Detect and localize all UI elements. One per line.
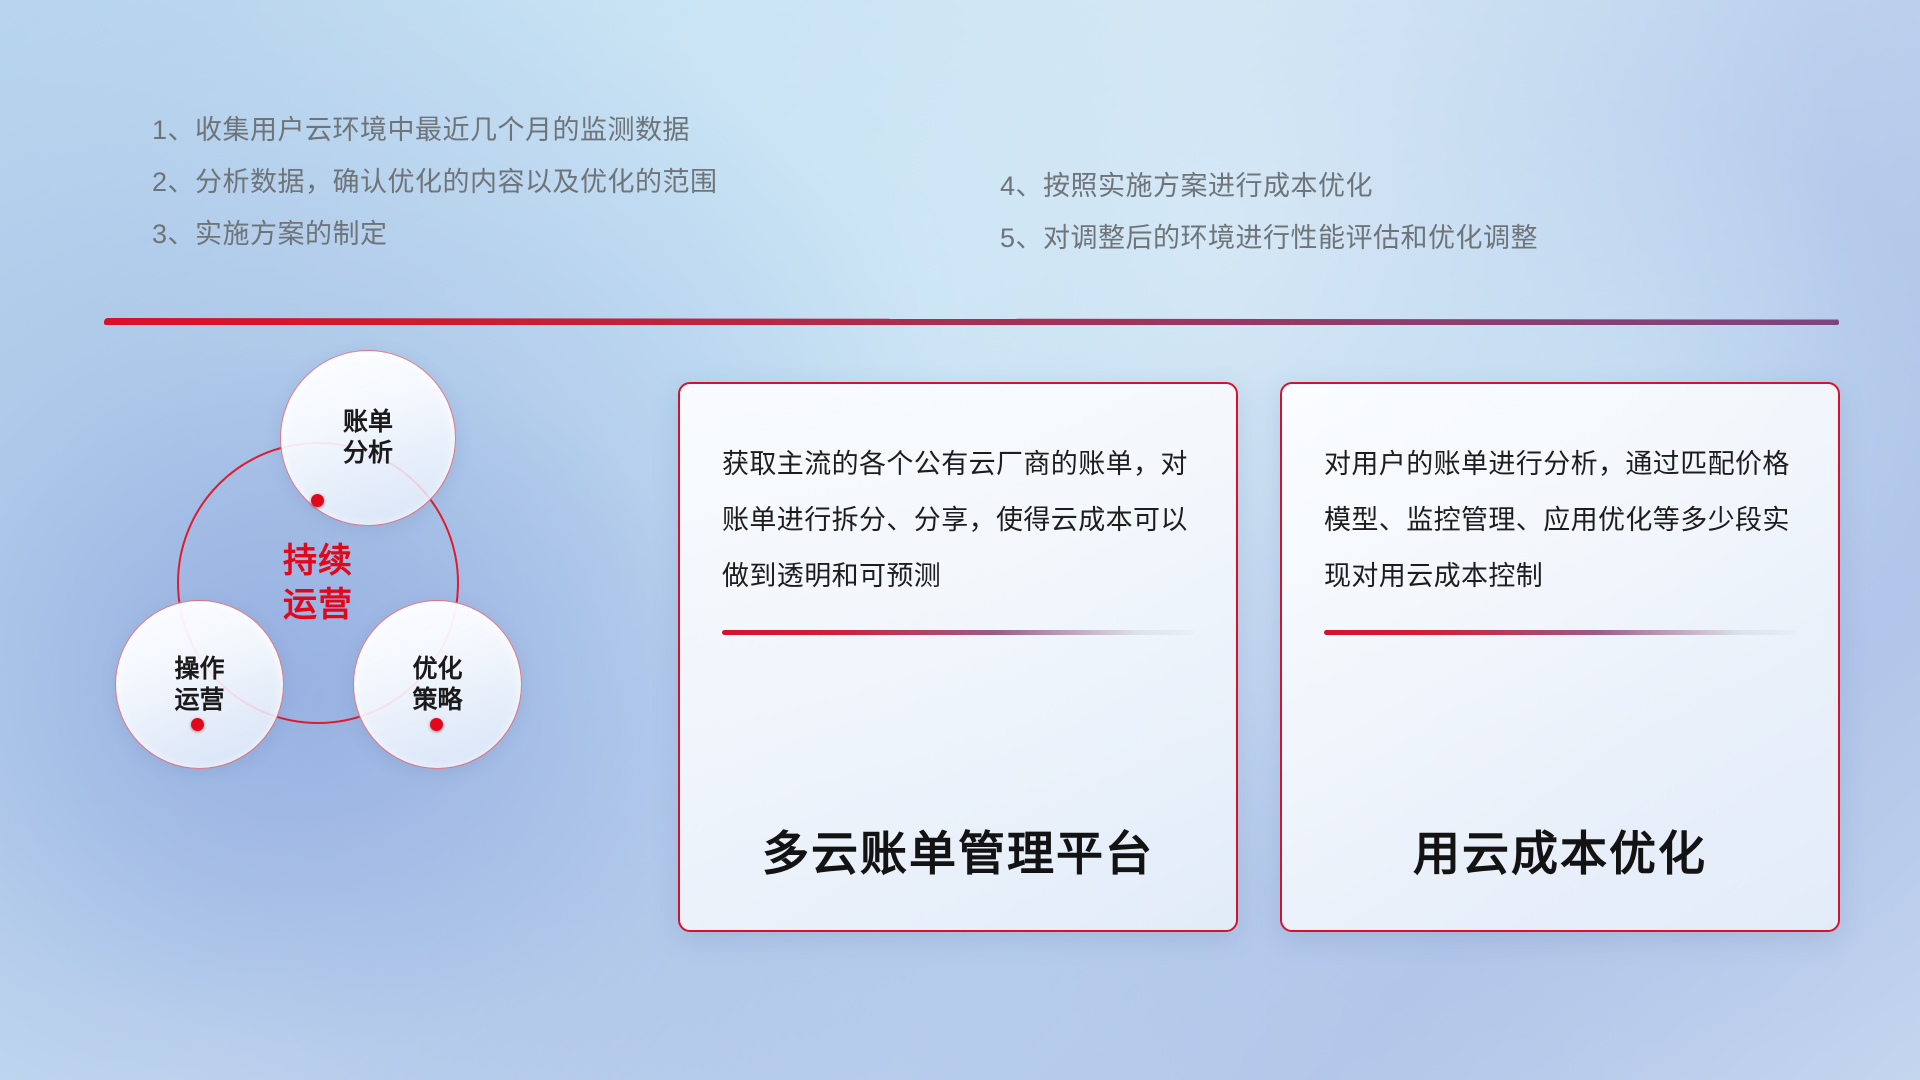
cycle-center-label-line2: 运营 <box>283 583 353 627</box>
node-label-line2: 分析 <box>343 438 393 469</box>
card-divider-rule <box>722 630 1194 635</box>
node-label-line2: 策略 <box>412 685 462 716</box>
section-divider-rule <box>104 318 1839 325</box>
node-connector-dot-icon <box>430 718 443 731</box>
node-connector-dot-icon <box>311 494 324 507</box>
bullet-item: 1、收集用户云环境中最近几个月的监测数据 <box>152 104 718 156</box>
diagram-node-bill-analysis[interactable]: 账单 分析 <box>280 350 456 526</box>
node-label-line1: 优化 <box>412 654 462 685</box>
card-divider-rule <box>1324 630 1796 635</box>
bullet-list-right: 4、按照实施方案进行成本优化 5、对调整后的环境进行性能评估和优化调整 <box>1000 160 1538 264</box>
feature-card-multicloud-billing[interactable]: 获取主流的各个公有云厂商的账单，对账单进行拆分、分享，使得云成本可以做到透明和可… <box>678 382 1238 932</box>
cycle-center-label-line1: 持续 <box>283 539 353 583</box>
bullet-item: 2、分析数据，确认优化的内容以及优化的范围 <box>152 156 718 208</box>
bullet-item: 5、对调整后的环境进行性能评估和优化调整 <box>1000 212 1538 264</box>
bullet-item: 3、实施方案的制定 <box>152 208 718 260</box>
continuous-operation-diagram: 持续 运营 账单 分析 操作 运营 优化 策略 <box>100 350 620 950</box>
card-title: 用云成本优化 <box>1324 815 1796 896</box>
slide-canvas: 1、收集用户云环境中最近几个月的监测数据 2、分析数据，确认优化的内容以及优化的… <box>0 0 1920 1080</box>
bullet-list-left: 1、收集用户云环境中最近几个月的监测数据 2、分析数据，确认优化的内容以及优化的… <box>152 104 718 260</box>
diagram-node-operations[interactable]: 操作 运营 <box>115 600 284 769</box>
card-body-text: 对用户的账单进行分析，通过匹配价格模型、监控管理、应用优化等多少段实现对用云成本… <box>1324 436 1796 604</box>
card-title: 多云账单管理平台 <box>722 815 1194 896</box>
node-label-line1: 账单 <box>343 407 393 438</box>
bullet-item: 4、按照实施方案进行成本优化 <box>1000 160 1538 212</box>
node-connector-dot-icon <box>191 718 204 731</box>
node-label-line2: 运营 <box>174 685 224 716</box>
diagram-node-optimization-strategy[interactable]: 优化 策略 <box>353 600 522 769</box>
feature-card-cloud-cost-optimization[interactable]: 对用户的账单进行分析，通过匹配价格模型、监控管理、应用优化等多少段实现对用云成本… <box>1280 382 1840 932</box>
node-label-line1: 操作 <box>174 654 224 685</box>
card-body-text: 获取主流的各个公有云厂商的账单，对账单进行拆分、分享，使得云成本可以做到透明和可… <box>722 436 1194 604</box>
